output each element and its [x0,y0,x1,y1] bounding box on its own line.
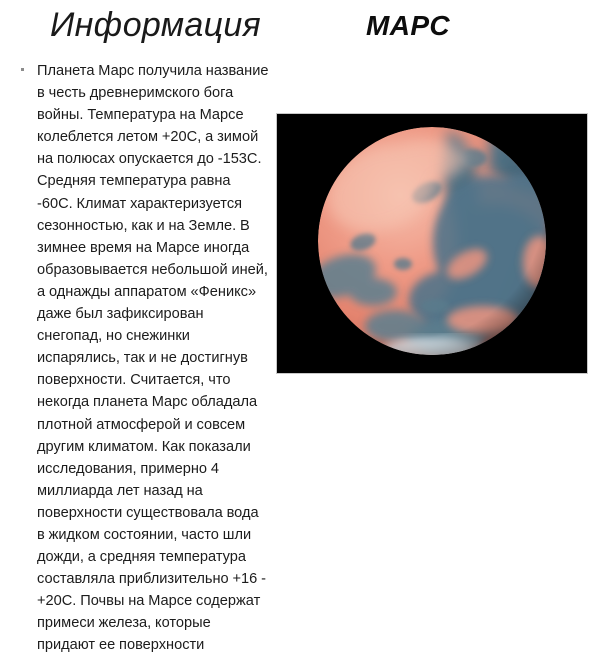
bullet-list-item: Планета Марс получила название в честь д… [18,60,270,657]
page-title-mars: МАРС [366,10,450,42]
mars-planet-photo [276,113,588,374]
mars-globe-illustration [277,114,587,373]
mars-description-paragraph: Планета Марс получила название в честь д… [37,60,270,657]
page-title-information: Информация [50,6,261,45]
square-bullet-icon [21,68,24,71]
content-text-block: Планета Марс получила название в честь д… [18,60,270,657]
